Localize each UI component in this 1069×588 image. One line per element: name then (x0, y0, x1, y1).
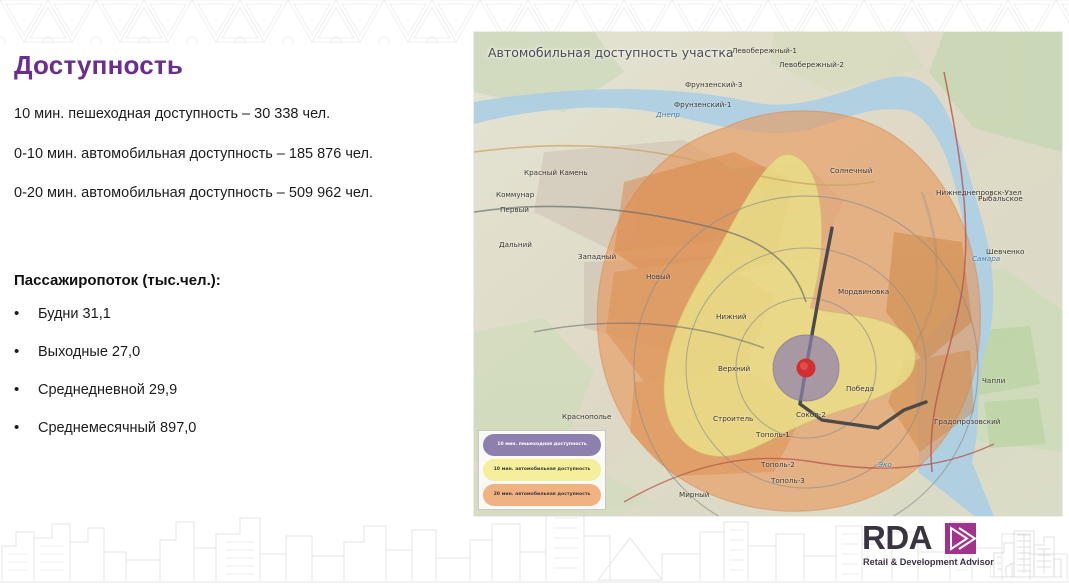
list-item: • Выходные 27,0 (14, 344, 444, 360)
slide-root: Доступность 10 мин. пешеходная доступнос… (0, 0, 1069, 588)
bullet-icon: • (14, 344, 38, 359)
stat-line-drive-10: 0-10 мин. автомобильная доступность – 18… (14, 147, 459, 162)
list-item-label: Будни 31,1 (38, 306, 111, 322)
list-item: • Среднемесячный 897,0 (14, 420, 444, 436)
list-item-label: Выходные 27,0 (38, 344, 140, 360)
passenger-flow-heading: Пассажиропоток (тыс.чел.): (14, 272, 221, 289)
passenger-flow-list: • Будни 31,1 • Выходные 27,0 • Среднедне… (14, 306, 444, 458)
logo-wordmark: RDA (862, 521, 932, 554)
chevron-mark-icon (945, 523, 976, 554)
legend-item-drive-20: 20 мин. автомобильная доступность (483, 484, 601, 506)
legend-item-drive-10: 10 мин. автомобильная доступность (483, 459, 601, 481)
logo-tagline: Retail & Development Advisor (863, 557, 994, 567)
list-item: • Будни 31,1 (14, 306, 444, 322)
bullet-icon: • (14, 382, 38, 397)
legend-item-walk-10: 10 мин. пешеходная доступность (483, 434, 601, 456)
content-column: Доступность 10 мин. пешеходная доступнос… (0, 44, 470, 514)
logo-city-illustration-icon (990, 523, 1062, 579)
rda-logo: RDA Retail & Development Advisor (862, 519, 1062, 583)
page-title: Доступность (14, 50, 183, 81)
list-item-label: Среднемесячный 897,0 (38, 420, 196, 436)
accessibility-map[interactable]: Автомобильная доступность участка Левобе… (474, 32, 1062, 516)
site-marker-highlight (800, 362, 808, 370)
map-legend: 10 мин. пешеходная доступность 10 мин. а… (478, 430, 606, 510)
bullet-icon: • (14, 306, 38, 321)
stat-line-drive-20: 0-20 мин. автомобильная доступность – 50… (14, 186, 459, 201)
accessibility-stats-list: 10 мин. пешеходная доступность – 30 338 … (14, 107, 459, 226)
bullet-icon: • (14, 420, 38, 435)
stat-line-walk-10: 10 мин. пешеходная доступность – 30 338 … (14, 107, 459, 122)
list-item: • Среднедневной 29,9 (14, 382, 444, 398)
list-item-label: Среднедневной 29,9 (38, 382, 177, 398)
